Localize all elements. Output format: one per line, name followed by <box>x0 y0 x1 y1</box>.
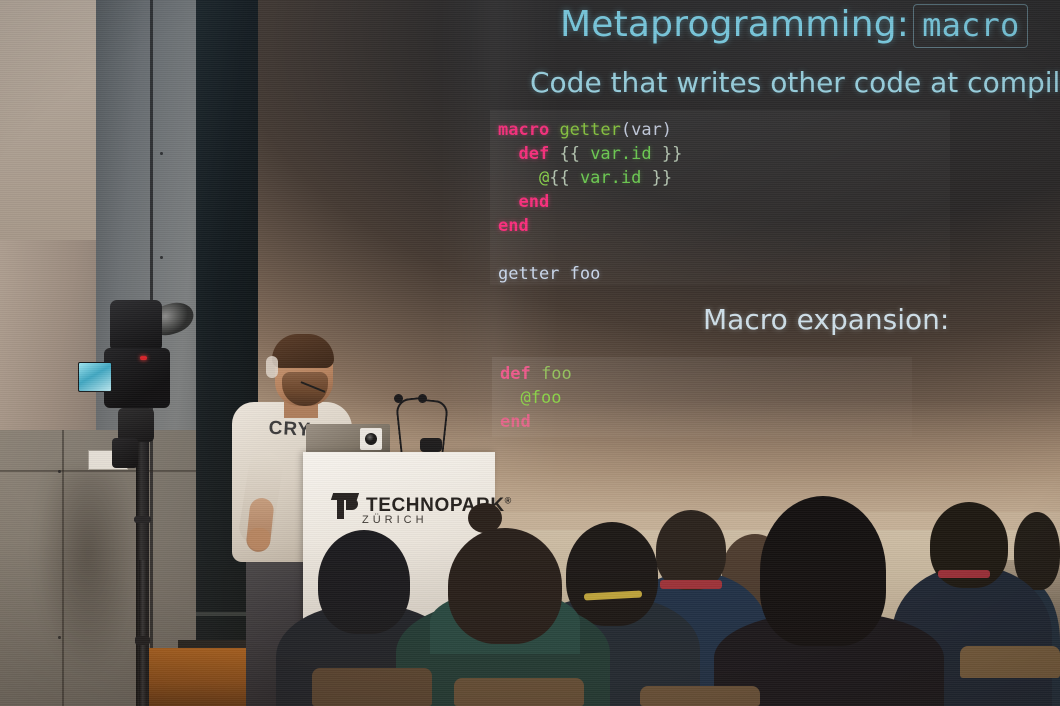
wall-panel-seam-horizontal <box>0 470 196 472</box>
code-line: macro getter(var) <box>498 118 948 142</box>
code-token: var.id <box>580 168 641 188</box>
slide-title-prefix: Metaprogramming: <box>560 4 909 45</box>
speaker-hand <box>248 528 270 550</box>
speaker-hair <box>272 334 334 368</box>
code-token: macro <box>498 120 549 140</box>
camera-record-indicator-icon <box>140 356 147 360</box>
laptop-sticker-icon <box>360 428 382 450</box>
chair-back <box>960 646 1060 678</box>
code-token: getter foo <box>498 264 600 284</box>
code-token: end <box>498 216 529 236</box>
panel-bolt-icon <box>58 636 61 639</box>
tripod-clamp <box>134 516 151 523</box>
video-camera-body <box>104 348 170 408</box>
slide-subtitle: Code that writes other code at compile t… <box>530 66 1060 106</box>
code-token <box>498 144 518 164</box>
camera-lcd-screen <box>78 362 112 392</box>
code-token: @ <box>539 168 549 188</box>
audience-member-head <box>566 522 658 626</box>
sticker-logo-dot-icon <box>365 433 377 445</box>
audience-collar <box>938 570 990 578</box>
code-token <box>652 144 662 164</box>
slide-title: Metaprogramming:macro <box>560 4 1060 56</box>
code-token: }} <box>652 168 672 188</box>
code-token: {{ <box>559 144 579 164</box>
code-token: (var) <box>621 120 672 140</box>
chair-back <box>640 686 760 706</box>
code-token <box>580 144 590 164</box>
tripod-leg <box>139 560 147 706</box>
audience-member-head <box>656 510 726 590</box>
audience-member-head <box>1014 512 1060 590</box>
code-token: end <box>518 192 549 212</box>
panel-bolt-icon <box>58 470 61 473</box>
code-line: getter foo <box>498 262 948 286</box>
technopark-mark-icon <box>332 493 358 519</box>
audience-member-head <box>318 530 410 634</box>
code-token: def <box>500 364 531 384</box>
stage-step-wood <box>142 648 262 706</box>
panel-bolt-icon <box>160 152 163 155</box>
code-token <box>498 192 518 212</box>
panel-bolt-icon <box>160 256 163 259</box>
code-token <box>531 364 541 384</box>
code-token <box>498 168 539 188</box>
tripod-head <box>118 408 154 442</box>
code-token: foo <box>541 364 572 384</box>
audience-member-head <box>760 496 886 646</box>
headset-mic-band-icon <box>266 356 278 378</box>
photo-canvas: Metaprogramming:macro Code that writes o… <box>0 0 1060 706</box>
chair-back <box>312 668 432 706</box>
code-token: def <box>518 144 549 164</box>
code-token <box>549 144 559 164</box>
code-token: getter <box>559 120 620 140</box>
code-token: var.id <box>590 144 651 164</box>
camera-grip <box>112 438 138 468</box>
code-token <box>549 120 559 140</box>
camera-lens <box>110 300 162 352</box>
audience-member-head <box>448 528 562 644</box>
mic-base <box>420 438 442 452</box>
code-token <box>641 168 651 188</box>
code-line: def {{ var.id }} <box>498 142 948 166</box>
wall-panel-far-left-top <box>0 0 96 240</box>
mic-capsule-icon-left <box>394 394 403 403</box>
cast-shadow-on-wall <box>28 470 148 706</box>
code-token <box>570 168 580 188</box>
expansion-code-line: def foo <box>500 362 900 386</box>
audience-collar <box>660 580 722 589</box>
chair-back <box>454 678 584 706</box>
code-line <box>498 238 948 262</box>
slide-title-keyword: macro <box>913 4 1028 48</box>
code-token: {{ <box>549 168 569 188</box>
mic-capsule-icon-right <box>418 394 427 403</box>
code-block-macro-definition: macro getter(var) def {{ var.id }} @{{ v… <box>498 118 948 283</box>
code-line: end <box>498 214 948 238</box>
macro-expansion-label: Macro expansion: <box>703 303 1003 343</box>
code-token: }} <box>662 144 682 164</box>
registered-mark-icon: ® <box>505 496 512 506</box>
code-line: @{{ var.id }} <box>498 166 948 190</box>
tripod-clamp-lower <box>135 636 150 645</box>
code-line: end <box>498 190 948 214</box>
